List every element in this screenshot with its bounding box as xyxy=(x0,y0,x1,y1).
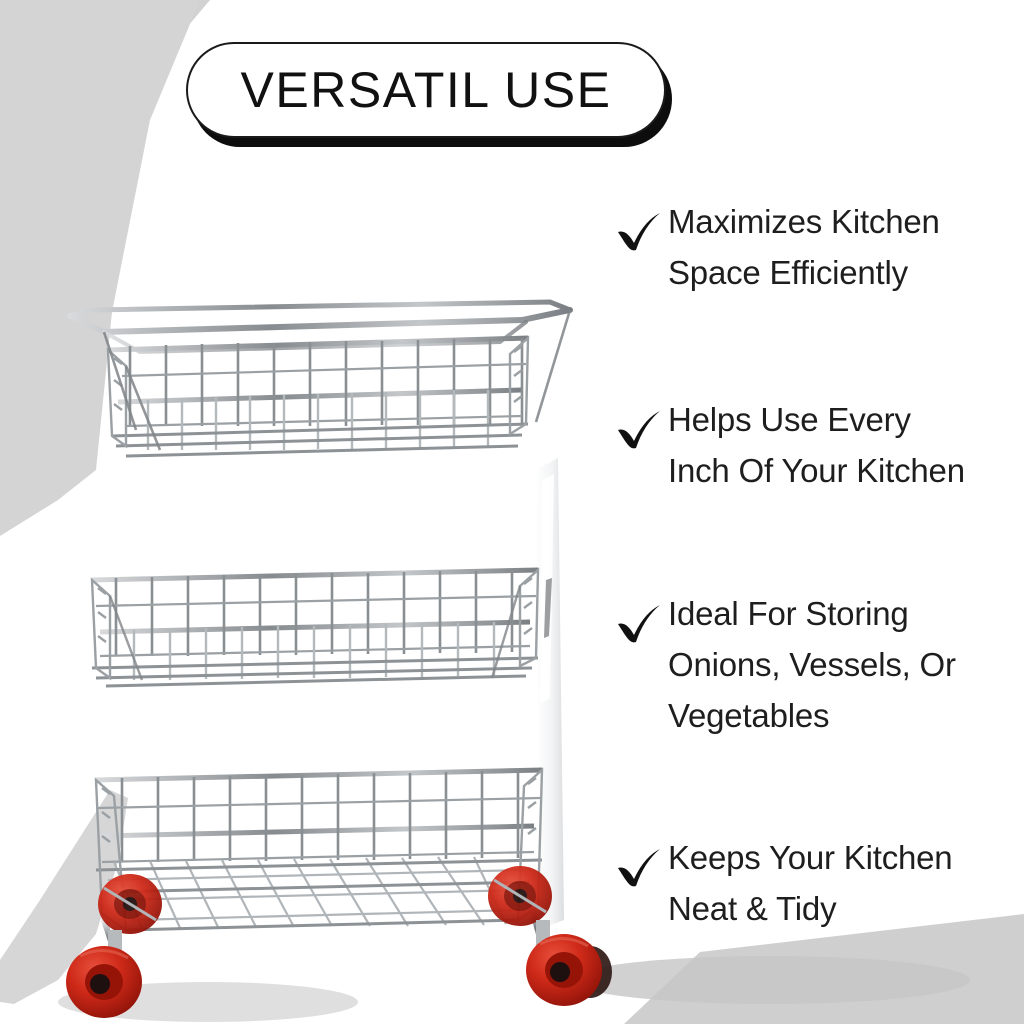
check-icon xyxy=(616,210,662,254)
page-title: VERSATIL USE xyxy=(241,65,612,115)
check-icon xyxy=(616,408,662,452)
trolley-basket-middle xyxy=(92,570,538,686)
feature-item: Keeps Your Kitchen Neat & Tidy xyxy=(616,832,1024,934)
feature-label: Maximizes Kitchen Space Efficiently xyxy=(668,196,940,298)
caster-front-right xyxy=(526,920,612,1006)
caster-rear-left xyxy=(98,874,162,934)
title-banner: VERSATIL USE xyxy=(186,42,666,138)
title-banner-pill: VERSATIL USE xyxy=(186,42,666,138)
feature-label: Ideal For Storing Onions, Vessels, Or Ve… xyxy=(668,588,956,741)
feature-item: Helps Use Every Inch Of Your Kitchen xyxy=(616,394,1024,496)
check-icon xyxy=(616,846,662,890)
trolley-basket-bottom xyxy=(96,770,542,930)
shadow-front-right-caster xyxy=(570,956,970,1004)
feature-label: Keeps Your Kitchen Neat & Tidy xyxy=(668,832,952,934)
caster-rear-right xyxy=(488,866,552,926)
feature-label: Helps Use Every Inch Of Your Kitchen xyxy=(668,394,965,496)
feature-item: Ideal For Storing Onions, Vessels, Or Ve… xyxy=(616,588,1024,741)
feature-item: Maximizes Kitchen Space Efficiently xyxy=(616,196,1024,298)
check-icon xyxy=(616,602,662,646)
infographic-page: VERSATIL USE xyxy=(0,0,1024,1024)
product-image-trolley xyxy=(30,280,630,1024)
